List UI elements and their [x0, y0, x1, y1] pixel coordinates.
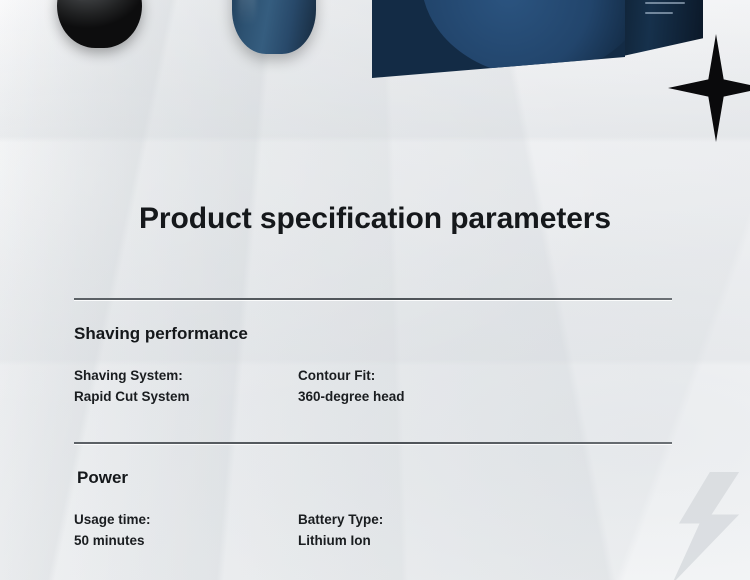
- specification-sheet: Product specification parameters Shaving…: [0, 110, 750, 551]
- section-power: Power Usage time: 50 minutes Battery Typ…: [0, 468, 750, 552]
- box-swoosh-graphic: [421, 0, 651, 76]
- section-heading: Shaving performance: [74, 324, 676, 344]
- spec-grid: Shaving System: Rapid Cut System Contour…: [74, 365, 676, 408]
- spec-value: 50 minutes: [74, 530, 298, 551]
- spec-grid: Usage time: 50 minutes Battery Type: Lit…: [74, 509, 676, 552]
- page-title: Product specification parameters: [0, 202, 750, 236]
- retail-box-image: [372, 0, 702, 96]
- spec-item: Contour Fit: 360-degree head: [298, 365, 405, 408]
- retail-box-front-panel: [372, 0, 625, 78]
- spec-value: Lithium Ion: [298, 530, 383, 551]
- spec-item: Shaving System: Rapid Cut System: [74, 365, 298, 408]
- spec-label: Contour Fit:: [298, 365, 405, 386]
- section-heading: Power: [74, 468, 676, 488]
- divider-top: [74, 298, 672, 300]
- spec-label: Battery Type:: [298, 509, 383, 530]
- spec-item: Usage time: 50 minutes: [74, 509, 298, 552]
- spec-label: Usage time:: [74, 509, 298, 530]
- spec-item: Battery Type: Lithium Ion: [298, 509, 383, 552]
- retail-box-side-panel: [623, 0, 703, 56]
- spec-label: Shaving System:: [74, 365, 298, 386]
- product-photo-band: [0, 0, 750, 110]
- divider-middle: [74, 442, 672, 444]
- black-shaver-product-image: [57, 0, 142, 48]
- spec-value: 360-degree head: [298, 386, 405, 407]
- spec-value: Rapid Cut System: [74, 386, 298, 407]
- navy-shaver-product-image: [232, 0, 316, 54]
- product-spec-page: Product specification parameters Shaving…: [0, 0, 750, 580]
- section-shaving-performance: Shaving performance Shaving System: Rapi…: [0, 324, 750, 408]
